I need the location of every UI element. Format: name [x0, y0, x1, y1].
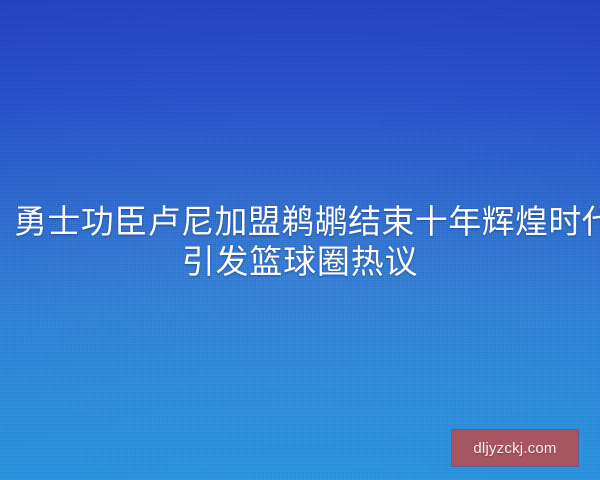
- watermark-badge: dljyzckj.com: [452, 430, 578, 466]
- watermark-label: dljyzckj.com: [473, 441, 556, 456]
- headline-line-1: 勇士功臣卢尼加盟鹈鹕结束十年辉煌时代: [14, 202, 586, 242]
- headline-title: 勇士功臣卢尼加盟鹈鹕结束十年辉煌时代 引发篮球圈热议: [0, 202, 600, 282]
- headline-line-2: 引发篮球圈热议: [14, 242, 586, 282]
- article-banner: 勇士功臣卢尼加盟鹈鹕结束十年辉煌时代 引发篮球圈热议 dljyzckj.com: [0, 0, 600, 480]
